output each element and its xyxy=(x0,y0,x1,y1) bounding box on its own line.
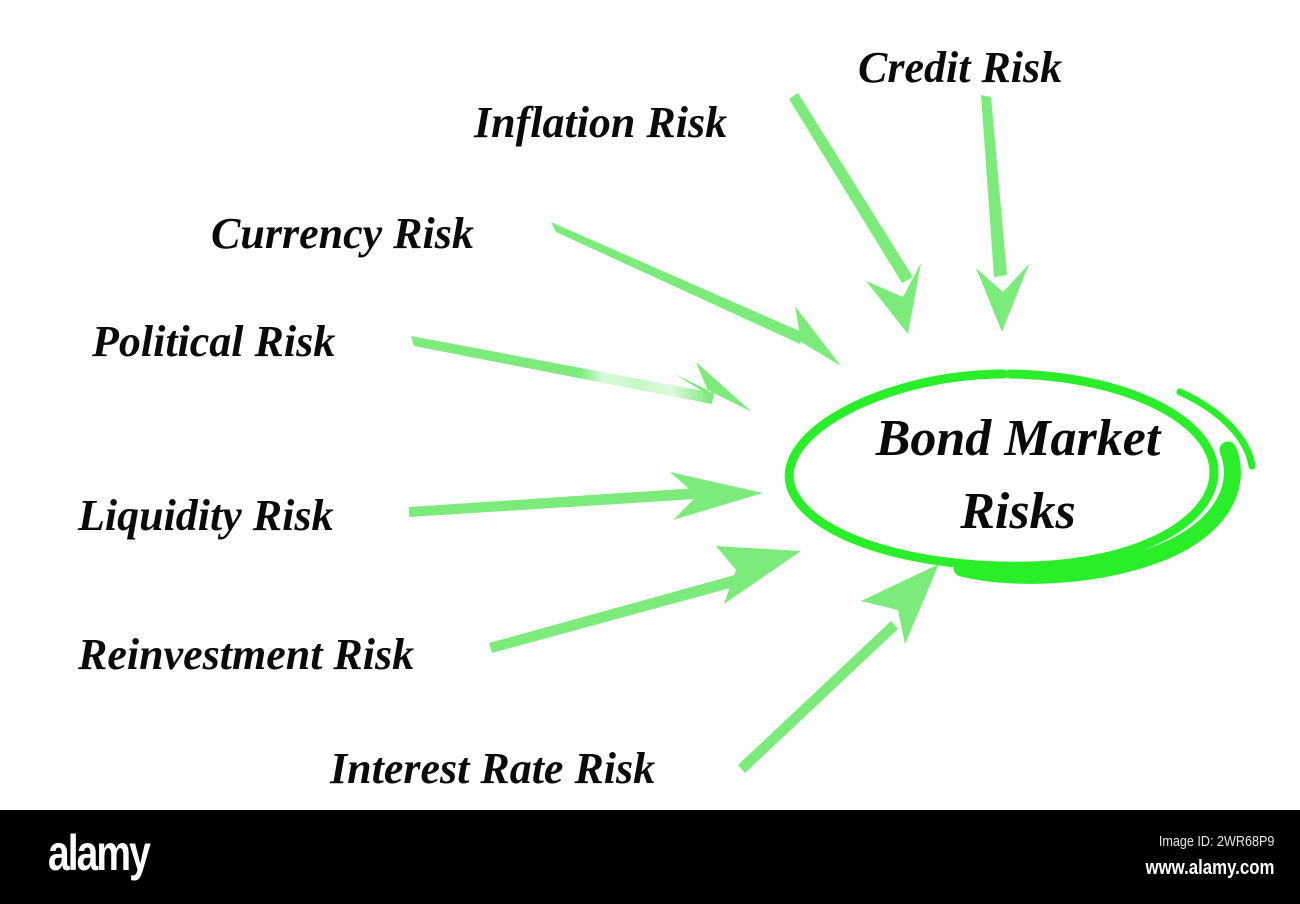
image-id-text: Image ID: 2WR68P9 xyxy=(1145,832,1274,852)
diagram-canvas: Bond Market Risks Credit Risk Inflation … xyxy=(0,0,1300,810)
node-label-reinvestment-risk[interactable]: Reinvestment Risk xyxy=(77,630,414,679)
center-node-label-line1: Bond Market xyxy=(875,410,1162,467)
center-node-ellipse[interactable] xyxy=(789,374,1252,575)
node-label-liquidity-risk[interactable]: Liquidity Risk xyxy=(77,491,333,540)
alamy-url-text[interactable]: www.alamy.com xyxy=(1145,855,1274,882)
diagram-page: Bond Market Risks Credit Risk Inflation … xyxy=(0,0,1300,904)
node-label-inflation-risk[interactable]: Inflation Risk xyxy=(473,98,727,147)
arrow-political-risk xyxy=(411,336,752,412)
arrow-inflation-risk xyxy=(789,93,921,334)
footer-credits: Image ID: 2WR68P9 www.alamy.com xyxy=(1121,832,1274,882)
arrow-liquidity-risk xyxy=(409,472,763,520)
arrow-interest-rate-risk xyxy=(738,564,939,773)
alamy-logo: alamy xyxy=(48,828,149,878)
node-label-political-risk[interactable]: Political Risk xyxy=(91,317,335,366)
node-label-currency-risk[interactable]: Currency Risk xyxy=(211,209,474,258)
arrow-credit-risk xyxy=(976,95,1029,332)
node-label-credit-risk[interactable]: Credit Risk xyxy=(858,43,1062,92)
arrow-currency-risk xyxy=(551,222,841,366)
bond-market-risks-diagram: Bond Market Risks Credit Risk Inflation … xyxy=(0,0,1300,810)
center-node-label-line2: Risks xyxy=(959,483,1076,540)
arrow-reinvestment-risk xyxy=(489,546,801,653)
alamy-watermark-bar: alamy Image ID: 2WR68P9 www.alamy.com xyxy=(0,810,1300,904)
node-label-interest-rate-risk[interactable]: Interest Rate Risk xyxy=(329,744,655,793)
